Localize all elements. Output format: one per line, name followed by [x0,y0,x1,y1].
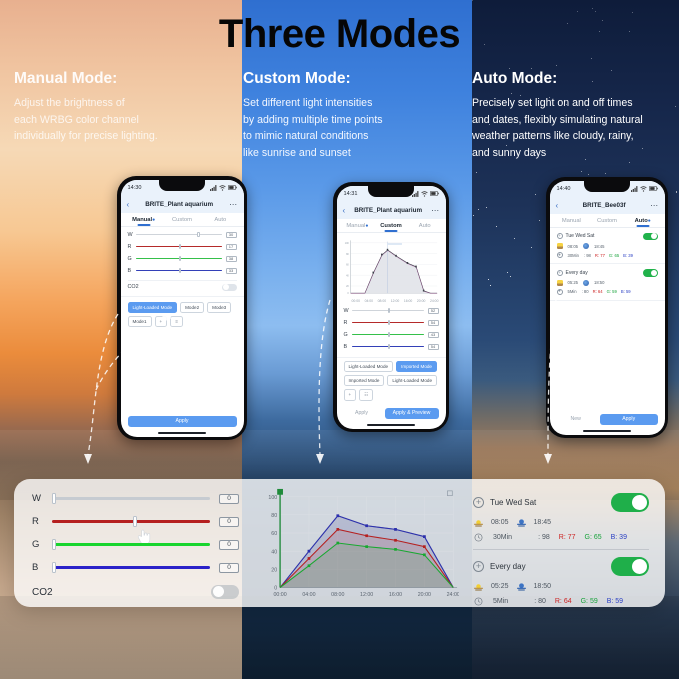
slider-track-b[interactable] [352,346,424,348]
w-value: : 98 [538,534,550,541]
slider-knob-r[interactable] [388,320,390,326]
slider-value-g[interactable]: 0 [219,540,239,550]
slider-knob-g[interactable] [179,256,181,262]
apply-button[interactable]: Apply [344,408,380,419]
mode-chip[interactable]: Mode2 [180,302,204,313]
ramp-duration: 30Min [568,253,579,258]
co2-toggle[interactable] [222,284,237,292]
w-value: : 80 [582,289,589,294]
svg-text:60: 60 [346,262,349,266]
battery-icon [228,185,237,190]
slider-row-b: B 33 [128,268,237,274]
svg-text:16:00: 16:00 [389,592,402,598]
b-value: B: 39 [611,534,627,541]
panel-slider-row-b: B 0 [32,562,239,573]
schedule-row[interactable]: + Every day 05:25 18:50 [473,553,649,606]
status-icons [631,186,658,192]
active-dot-icon: ● [648,218,651,224]
phone-notch [368,186,414,197]
mode-chips-panel: Light-Loaded Mode Mode2 Mode3 Mode1 + ≡ [121,296,244,332]
off-time: 18:50 [534,583,552,590]
page-title: BRITE_Bee03f [558,202,650,209]
column-line: like sunrise and sunset [243,145,468,162]
g-value: G: 59 [607,289,617,294]
tab-auto[interactable]: Auto [201,217,239,226]
slider-knob-b[interactable] [179,268,181,274]
slider-knob-w[interactable] [52,493,56,504]
schedule-toggle[interactable] [643,233,658,241]
mode-column-auto: Auto Mode: Precisely set light on and of… [472,70,677,161]
mode-chip[interactable]: Mode1 [128,316,152,327]
slider-knob-g[interactable] [52,539,56,550]
co2-label: CO2 [32,587,53,598]
column-line: Set different light intensities [243,95,468,112]
svg-text:80: 80 [271,513,277,519]
panel-slider-row-r: R 0 [32,516,239,527]
mode-chip[interactable]: Light-Loaded Mode [128,302,178,313]
g-value: G: 65 [609,253,619,258]
slider-value-g[interactable]: 43 [428,332,439,338]
panel-sliders: W 0 R 0 G 0 B [14,479,255,607]
b-value: B: 59 [621,289,631,294]
schedule-values: ● 5Min : 80 R: 64 G: 59 B: 59 [557,289,658,295]
co2-toggle[interactable] [211,585,239,599]
light-schedule-chart[interactable]: 02040608010000:0004:0008:0012:0016:0020:… [257,487,459,603]
tab-bar: Manual● Custom Auto [337,219,446,233]
column-heading: Auto Mode: [472,70,677,88]
schedule-toggle[interactable] [611,557,649,576]
schedule-days: Tue Wed Sat [490,498,536,507]
slider-label: G [344,332,352,338]
sunrise-icon [473,582,484,591]
mode-chip[interactable]: Imported Mode [396,361,437,372]
schedule-times: 05:25 18:50 [473,582,649,591]
slider-track-g[interactable] [52,543,210,546]
page-title: BRITE_Plant aquarium [129,201,229,208]
column-line: weather patterns like cloudy, rainy, [472,128,677,145]
signal-icon [631,186,638,192]
slider-row-w: W 30 [128,232,237,238]
mode-chip-list: Light-Loaded Mode Mode2 Mode3 Mode1 + ≡ [128,302,237,327]
tab-custom[interactable]: Custom [163,217,201,226]
mode-column-custom: Custom Mode: Set different light intensi… [243,70,468,161]
g-value: G: 59 [581,598,598,605]
slider-track-b[interactable] [136,270,222,272]
mode-chip[interactable]: Imported Mode [344,375,385,386]
tab-manual[interactable]: Manual● [341,223,375,232]
svg-text:40: 40 [271,549,277,555]
schedule-values: 5Min : 80 R: 64 G: 59 B: 59 [473,597,649,606]
page-title: BRITE_Plant aquarium [345,207,431,214]
schedule-header: + Every day [473,557,649,576]
wifi-icon [421,191,428,197]
slider-knob-r[interactable] [179,244,181,250]
panel-slider-row-g: G 0 [32,539,239,550]
schedule-days: Every day [490,562,526,571]
more-dots-icon[interactable]: ⋯ [650,201,658,210]
status-icons [210,185,237,191]
panel-slider-row-w: W 0 [32,493,239,504]
sunset-icon [516,518,527,527]
tab-bar: Manual Custom Auto● [550,214,665,228]
schedule-values: ● 30Min : 98 R: 77 G: 65 B: 39 [557,252,658,258]
sunset-icon [516,582,527,591]
slider-label: B [32,562,52,573]
slider-value-b[interactable]: 33 [226,268,237,274]
x-tick: 20:00 [417,299,426,303]
co2-row: CO2 [128,280,237,292]
clock-icon: ● [557,289,563,295]
tab-auto[interactable]: Auto● [625,218,661,227]
svg-text:12:00: 12:00 [360,592,373,598]
phone-notch [159,180,205,191]
home-indicator [583,430,631,432]
add-mode-button[interactable]: + [155,316,168,327]
plus-circle-icon[interactable]: + [557,233,563,239]
column-line: by adding multiple time points [243,112,468,129]
slider-value-r[interactable]: 17 [226,244,237,250]
slider-track-g[interactable] [352,334,424,336]
svg-text:100: 100 [344,240,348,244]
svg-text:08:00: 08:00 [331,592,344,598]
g-value: G: 65 [585,534,602,541]
slider-row-w: W 52 [344,308,439,314]
column-line: and dates, flexibly simulating natural [472,112,677,129]
r-value: R: 64 [555,598,572,605]
slider-track-r[interactable] [352,322,424,324]
slider-knob-r[interactable] [133,516,137,527]
detail-panel: W 0 R 0 G 0 B [14,479,665,607]
schedule-days-wrap: + Every day [557,270,588,276]
svg-text:00:00: 00:00 [273,592,286,598]
off-time: 18:50 [594,280,604,285]
x-tick: 24:00 [430,299,439,303]
slider-track-w[interactable] [136,234,222,236]
column-line: to mimic natural conditions [243,128,468,145]
slider-knob-w[interactable] [388,308,390,314]
clock-icon [473,533,484,542]
list-mode-button[interactable]: ≡ [170,316,183,327]
slider-value-w[interactable]: 0 [219,494,239,504]
column-line: each WRBG color channel [14,112,239,129]
slider-row-r: R 17 [128,244,237,250]
plus-circle-icon[interactable]: + [557,270,563,276]
water-band [0,596,679,679]
tab-custom[interactable]: Custom [589,218,625,227]
schedule-row[interactable]: + Tue Wed Sat 08:05 18:45 ● 30Min : 98 R… [550,228,665,265]
svg-text:60: 60 [271,531,277,537]
slider-row-g: G 43 [344,332,439,338]
schedule-times: 08:05 18:45 [557,243,658,249]
column-heading: Custom Mode: [243,70,468,88]
signal-icon [210,185,217,191]
svg-text:0: 0 [274,586,277,592]
sunrise-icon [473,518,484,527]
column-line: and sunny days [472,145,677,162]
nav-bar: ‹ BRITE_Plant aquarium ⋯ [121,196,244,213]
r-value: R: 77 [595,253,605,258]
slider-row-g: G 38 [128,256,237,262]
slider-label: W [344,308,352,314]
on-time: 05:25 [491,583,509,590]
schedule-values: 30Min : 98 R: 77 G: 65 B: 39 [473,533,649,542]
schedule-days-wrap: + Every day [473,561,526,572]
off-time: 18:45 [594,244,604,249]
tab-auto[interactable]: Auto [408,223,442,232]
tab-bar: Manual● Custom Auto [121,213,244,227]
schedule-header: + Every day [557,269,658,277]
schedule-header: + Tue Wed Sat [557,233,658,241]
sunset-icon [583,243,589,249]
apply-button[interactable]: Apply [600,414,658,425]
add-mode-button[interactable]: + [344,389,357,401]
slider-value-g[interactable]: 38 [226,256,237,262]
nav-bar: ‹ BRITE_Bee03f ⋯ [550,197,665,214]
svg-text:20: 20 [271,567,277,573]
slider-label: W [128,232,136,238]
slider-value-w[interactable]: 52 [428,308,439,314]
tab-manual[interactable]: Manual● [125,217,163,226]
slider-track-g[interactable] [136,258,222,260]
b-value: B: 59 [607,598,623,605]
phone-auto-mode: 14:40 ‹ BRITE_Bee03f ⋯ Manual Custom Aut… [546,177,668,438]
slider-value-r[interactable]: 0 [219,517,239,527]
status-time: 14:30 [128,185,142,191]
home-indicator [367,424,415,426]
schedule-times: 08:05 18:45 [473,518,649,527]
mode-chip[interactable]: Light-Loaded Mode [344,361,394,372]
r-value: R: 77 [559,534,576,541]
svg-text:0: 0 [347,290,349,294]
plus-circle-icon[interactable]: + [473,561,484,572]
channel-values: : 80 R: 64 G: 59 B: 59 [582,289,631,294]
button-bar: New Apply [550,414,665,425]
schedule-header: + Tue Wed Sat [473,493,649,512]
apply-button[interactable]: Apply [128,416,237,427]
column-heading: Manual Mode: [14,70,239,88]
panel-chart: 02040608010000:0004:0008:0012:0016:0020:… [255,479,465,607]
mode-chip-list: Light-Loaded Mode Imported Mode Imported… [344,361,439,401]
schedule-days-wrap: + Tue Wed Sat [473,497,536,508]
phone-custom-mode: 14:31 ‹ BRITE_Plant aquarium ⋯ Manual● C… [333,182,449,432]
slider-track-r[interactable] [136,246,222,248]
slider-knob-w[interactable] [197,232,199,238]
sunset-icon [583,280,589,286]
x-tick: 04:00 [365,299,374,303]
more-dots-icon[interactable]: ⋯ [229,200,237,209]
slider-knob-b[interactable] [52,562,56,573]
slider-panel: W 30 R 17 G 38 B 33 CO2 [121,227,244,297]
nav-bar: ‹ BRITE_Plant aquarium ⋯ [337,202,446,219]
status-icons [412,191,439,197]
slider-value-w[interactable]: 30 [226,232,237,238]
svg-text:24:00: 24:00 [447,592,459,598]
column-line: Precisely set light on and off times [472,95,677,112]
panel-schedules: + Tue Wed Sat 08:05 18:45 [465,479,665,607]
mode-chip[interactable]: Light-Loaded Mode [387,375,437,386]
b-value: B: 39 [623,253,633,258]
home-indicator [158,432,206,434]
schedule-toggle[interactable] [643,269,658,277]
ramp-duration: 30Min [493,534,512,541]
x-tick: 00:00 [352,299,361,303]
svg-text:80: 80 [346,251,349,255]
slider-label: B [128,268,136,274]
schedule-days-wrap: + Tue Wed Sat [557,233,595,239]
tab-label: Manual [346,223,365,229]
on-time: 08:05 [568,244,578,249]
button-bar: Apply Apply & Preview [337,408,446,419]
clock-icon [473,597,484,606]
status-time: 14:40 [557,186,571,192]
status-time: 14:31 [344,191,358,197]
slider-row-b: B 54 [344,344,439,350]
w-value: : 98 [584,253,591,258]
slider-label: R [128,244,136,250]
schedule-divider [473,549,649,550]
ramp-duration: 5Min [568,289,577,294]
svg-text:04:00: 04:00 [302,592,315,598]
sunrise-icon [557,280,563,286]
slider-value-b[interactable]: 54 [428,344,439,350]
co2-label: CO2 [128,284,139,290]
wifi-icon [219,185,226,191]
phone-manual-mode: 14:30 ‹ BRITE_Plant aquarium ⋯ Manual● C… [117,176,247,440]
schedule-days: Tue Wed Sat [566,233,595,239]
off-time: 18:45 [534,519,552,526]
on-time: 08:05 [491,519,509,526]
slider-label: G [128,256,136,262]
plus-circle-icon[interactable]: + [473,497,484,508]
slider-knob-g[interactable] [388,332,390,338]
chart-svg: 100 80 60 40 20 0 [344,238,439,298]
svg-text:40: 40 [346,273,349,277]
slider-label: G [32,539,52,550]
mode-chips-panel: Light-Loaded Mode Imported Mode Imported… [337,357,446,406]
slider-track-r[interactable] [52,520,210,523]
column-line: Adjust the brightness of [14,95,239,112]
w-value: : 80 [534,598,546,605]
battery-icon [649,186,658,191]
apply-preview-button[interactable]: Apply & Preview [385,408,439,419]
phone-notch [584,181,630,192]
button-bar: Apply [121,416,244,427]
sunrise-icon [557,243,563,249]
schedule-row[interactable]: + Tue Wed Sat 08:05 18:45 [473,489,649,542]
custom-curve-chart[interactable]: 100 80 60 40 20 0 [337,233,446,305]
schedule-toggle[interactable] [611,493,649,512]
slider-label: R [344,320,352,326]
active-dot-icon: ● [365,223,368,229]
slider-label: W [32,493,52,504]
svg-text:20: 20 [346,283,349,287]
page-title: Three Modes [0,12,679,57]
channel-values: : 98 R: 77 G: 65 B: 39 [584,253,633,258]
svg-text:100: 100 [268,495,277,501]
slider-value-r[interactable]: 54 [428,320,439,326]
mode-column-manual: Manual Mode: Adjust the brightness of ea… [14,70,239,145]
slider-label: R [32,516,52,527]
svg-text:20:00: 20:00 [418,592,431,598]
slider-value-b[interactable]: 0 [219,563,239,573]
wifi-icon [640,186,647,192]
slider-track-b[interactable] [52,566,210,569]
x-tick: 12:00 [391,299,400,303]
slider-label: B [344,344,352,350]
list-mode-button[interactable]: ☷ [359,389,373,401]
ramp-duration: 5Min [493,598,508,605]
chart-x-axis: 00:00 04:00 08:00 12:00 16:00 20:00 24:0… [344,299,439,303]
on-time: 05:25 [568,280,578,285]
tab-custom[interactable]: Custom [374,223,408,232]
slider-track-w[interactable] [352,310,424,312]
x-tick: 08:00 [378,299,387,303]
more-dots-icon[interactable]: ⋯ [431,206,439,215]
new-button[interactable]: New [557,414,595,425]
battery-icon [430,191,439,196]
slider-panel: W 52 R 54 G 43 B 54 [337,305,446,357]
column-line: individually for precise lighting. [14,128,239,145]
tab-label: Auto [635,218,648,224]
active-dot-icon: ● [152,217,155,223]
tab-manual[interactable]: Manual [554,218,590,227]
slider-knob-b[interactable] [388,344,390,350]
schedule-times: 05:25 18:50 [557,280,658,286]
clock-icon: ● [557,252,563,258]
x-tick: 16:00 [404,299,413,303]
schedule-row[interactable]: + Every day 05:25 18:50 ● 5Min : 80 R: 6… [550,264,665,301]
mode-chip[interactable]: Mode3 [207,302,231,313]
slider-track-w[interactable] [52,497,210,500]
schedule-days: Every day [566,270,588,276]
panel-co2-row: CO2 [32,585,239,599]
slider-row-r: R 54 [344,320,439,326]
r-value: R: 64 [593,289,603,294]
tab-label: Manual [132,217,152,223]
